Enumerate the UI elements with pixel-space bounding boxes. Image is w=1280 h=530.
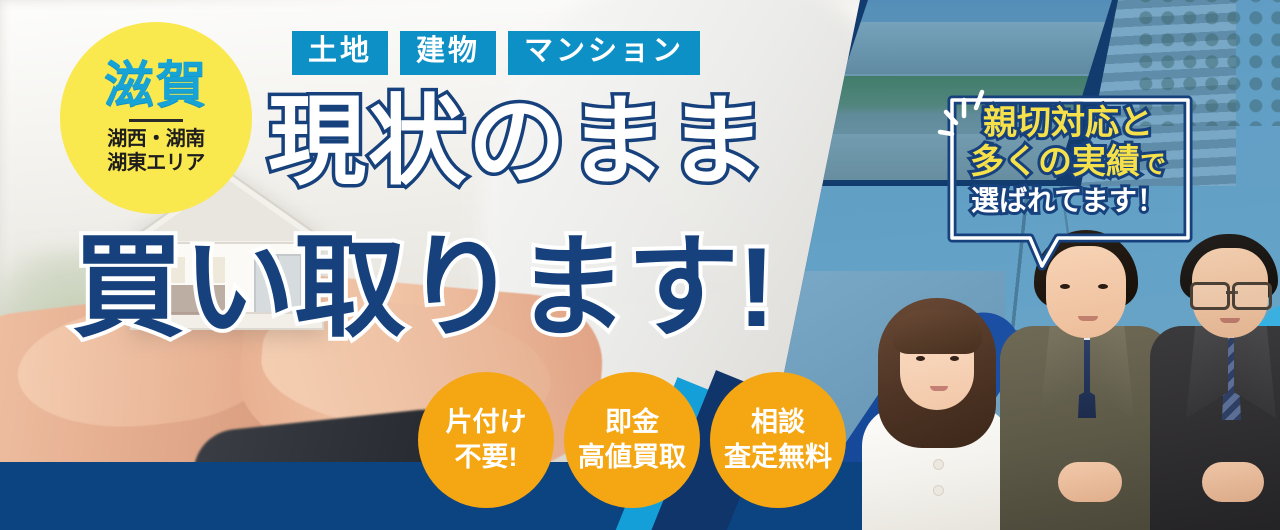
badge-3-line-2: 査定無料 bbox=[724, 440, 832, 475]
tag-land[interactable]: 土地 bbox=[292, 31, 388, 75]
region-divider bbox=[129, 119, 183, 122]
bubble-line-2-suffix: で bbox=[1140, 149, 1166, 179]
speech-bubble: 親切対応と 多くの実績で 選ばれてます！ bbox=[952, 98, 1184, 246]
real-estate-banner: 滋賀 湖西・湖南 湖東エリア 土地 建物 マンション 現状のまま 買い取ります! bbox=[0, 0, 1280, 530]
badge-2-line-1: 即金 bbox=[578, 405, 686, 440]
badge-1-line-2: 不要! bbox=[446, 440, 527, 475]
badge-3-line-1: 相談 bbox=[724, 405, 832, 440]
feature-badge-no-cleanup[interactable]: 片付け 不要! bbox=[418, 372, 554, 508]
headline-line-2: 買い取ります! bbox=[72, 232, 774, 344]
badge-2-line-2: 高値買取 bbox=[578, 440, 686, 475]
headline-line-1: 現状のまま bbox=[268, 92, 768, 190]
region-area-line2: 湖東エリア bbox=[107, 152, 205, 176]
property-type-tags: 土地 建物 マンション bbox=[292, 31, 700, 75]
bubble-line-2: 多くの実績で bbox=[952, 143, 1184, 182]
staff-photo-woman bbox=[862, 298, 1012, 530]
badge-1-line-1: 片付け bbox=[446, 405, 527, 440]
bubble-line-3: 選ばれてます！ bbox=[952, 184, 1184, 218]
tag-condominium[interactable]: マンション bbox=[508, 31, 700, 75]
bubble-line-2-main: 多くの実績 bbox=[970, 143, 1140, 181]
region-area: 湖西・湖南 湖東エリア bbox=[107, 128, 205, 175]
bubble-line-1: 親切対応と bbox=[952, 104, 1184, 143]
region-badge: 滋賀 湖西・湖南 湖東エリア bbox=[60, 22, 252, 214]
region-area-line1: 湖西・湖南 bbox=[107, 128, 205, 152]
tag-building[interactable]: 建物 bbox=[400, 31, 496, 75]
feature-badge-free-consultation[interactable]: 相談 査定無料 bbox=[710, 372, 846, 508]
speech-bubble-text: 親切対応と 多くの実績で 選ばれてます！ bbox=[952, 98, 1184, 217]
region-prefecture: 滋賀 bbox=[104, 60, 208, 110]
feature-badge-instant-cash[interactable]: 即金 高値買取 bbox=[564, 372, 700, 508]
